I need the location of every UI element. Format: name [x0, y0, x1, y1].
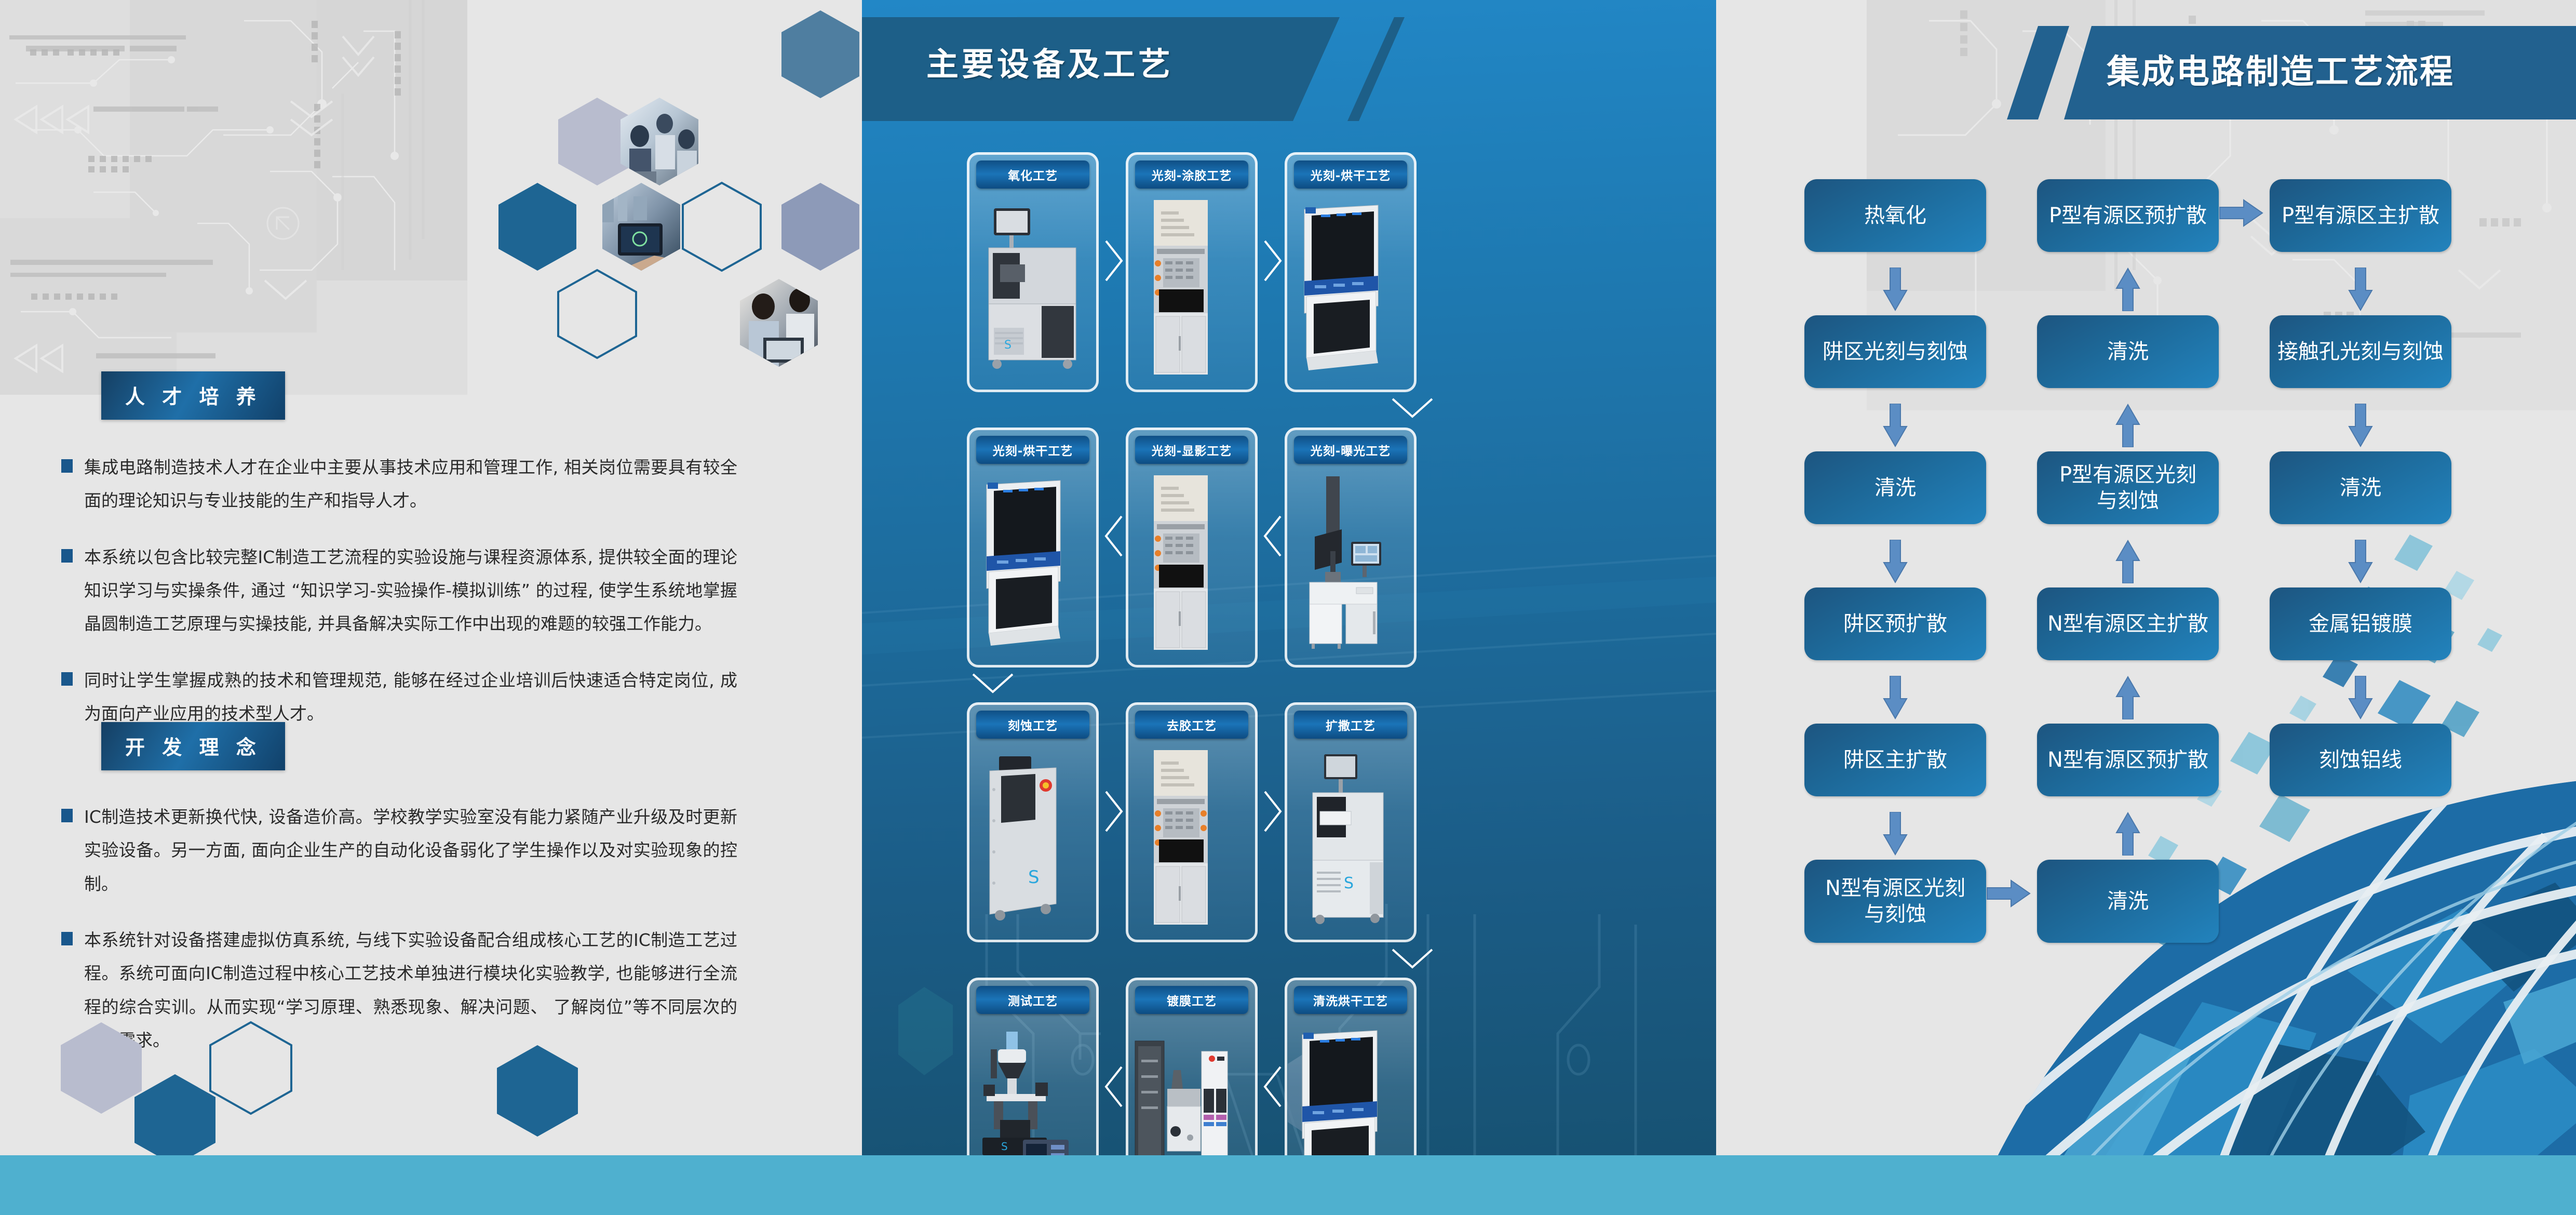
equipment-label: 光刻-涂胶工艺: [1135, 161, 1248, 189]
chevron-right-icon: [1262, 239, 1284, 283]
chevron-down-icon: [1391, 946, 1434, 971]
equipment-label: 光刻-曝光工艺: [1294, 436, 1407, 464]
equipment-card[interactable]: 光刻-显影工艺: [1126, 428, 1258, 667]
photo-tablet-factory: [600, 182, 683, 273]
flow-box[interactable]: P型有源区光刻 与刻蚀: [2037, 451, 2219, 524]
bullet-marker: [61, 459, 73, 473]
svg-text:S: S: [1028, 867, 1040, 888]
right-title: 集成电路制造工艺流程: [2107, 45, 2454, 93]
bottom-accent-bar: [0, 1155, 2576, 1215]
equipment-photo-develop-hood: [1152, 475, 1210, 652]
paragraph: 本系统以包含比较完整IC制造工艺流程的实验设施与课程资源体系, 提供较全面的理论…: [36, 541, 737, 641]
arrow-down-icon: [2348, 676, 2373, 719]
equipment-photo-etch-tool: S: [981, 753, 1064, 925]
equipment-label: 光刻-显影工艺: [1135, 436, 1248, 464]
svg-text:S: S: [1344, 874, 1354, 892]
equipment-photo-coating-hood: [1152, 200, 1210, 377]
flow-box[interactable]: 金属铝镀膜: [2270, 588, 2451, 660]
equipment-card[interactable]: 扩撒工艺 S: [1285, 702, 1417, 942]
section-badge-talent: 人 才 培 养: [101, 371, 285, 420]
equipment-card[interactable]: 刻蚀工艺 S: [967, 702, 1099, 942]
equipment-label: 光刻-烘干工艺: [1294, 161, 1407, 189]
equipment-card[interactable]: 氧化工艺 S: [967, 152, 1099, 392]
chevron-left-icon: [1262, 1065, 1284, 1109]
flow-box[interactable]: P型有源区主扩散: [2270, 179, 2451, 252]
chevron-right-icon: [1103, 790, 1125, 833]
equipment-label: 氧化工艺: [976, 161, 1089, 189]
flow-box[interactable]: 热氧化: [1804, 179, 1986, 252]
paragraph-text: IC制造技术更新换代快, 设备造价高。学校教学实验室没有能力紧随产业升级及时更新…: [84, 807, 737, 894]
equipment-label: 刻蚀工艺: [976, 711, 1089, 739]
paragraph: IC制造技术更新换代快, 设备造价高。学校教学实验室没有能力紧随产业升级及时更新…: [36, 800, 737, 901]
arrow-up-icon: [2115, 676, 2140, 719]
middle-panel: 主要设备及工艺 氧化工艺 S 光刻-涂胶工艺: [862, 0, 1716, 1215]
equipment-card[interactable]: 去胶工艺: [1126, 702, 1258, 942]
equipment-photo-exposure-aligner: [1294, 475, 1387, 650]
flow-box[interactable]: 清洗: [1804, 451, 1986, 524]
flow-box[interactable]: N型有源区主扩散: [2037, 588, 2219, 660]
arrow-down-icon: [2348, 540, 2373, 583]
middle-title-block: 主要设备及工艺: [862, 17, 1392, 121]
paragraph: 同时让学生掌握成熟的技术和管理规范, 能够在经过企业培训后快速适合特定岗位, 成…: [36, 664, 737, 731]
flow-box[interactable]: P型有源区预扩散: [2037, 179, 2219, 252]
left-panel: 人 才 培 养 集成电路制造技术人才在企业中主要从事技术应用和管理工作, 相关岗…: [0, 0, 862, 1215]
flow-box[interactable]: 阱区预扩散: [1804, 588, 1986, 660]
equipment-label: 扩撒工艺: [1294, 711, 1407, 739]
paragraph-text: 本系统以包含比较完整IC制造工艺流程的实验设施与课程资源体系, 提供较全面的理论…: [84, 547, 737, 634]
equipment-label: 光刻-烘干工艺: [976, 436, 1089, 464]
equipment-photo-diffusion-furnace: S: [1292, 752, 1388, 925]
right-panel: 集成电路制造工艺流程: [1716, 0, 2576, 1215]
equipment-label: 清洗烘干工艺: [1294, 986, 1407, 1014]
equipment-label: 去胶工艺: [1135, 711, 1248, 739]
arrow-right-icon: [1986, 879, 2031, 907]
photo-students-laptop: [737, 278, 820, 369]
arrow-down-icon: [2348, 404, 2373, 447]
equipment-label: 测试工艺: [976, 986, 1089, 1014]
flow-box[interactable]: 刻蚀铝线: [2270, 724, 2451, 796]
equipment-card[interactable]: 光刻-涂胶工艺: [1126, 152, 1258, 392]
poster-root: 人 才 培 养 集成电路制造技术人才在企业中主要从事技术应用和管理工作, 相关岗…: [0, 0, 2576, 1215]
chevron-down-icon: [1391, 396, 1434, 421]
arrow-right-icon: [2219, 199, 2263, 227]
svg-text:S: S: [1001, 1140, 1008, 1153]
flow-box[interactable]: 阱区主扩散: [1804, 724, 1986, 796]
arrow-up-icon: [2115, 540, 2140, 583]
arrow-up-icon: [2115, 404, 2140, 447]
equipment-card[interactable]: 光刻-烘干工艺: [967, 428, 1099, 667]
equipment-card[interactable]: 光刻-曝光工艺: [1285, 428, 1417, 667]
chevron-left-icon: [1103, 1065, 1125, 1109]
chevron-left-icon: [1262, 514, 1284, 558]
bullet-marker: [61, 809, 73, 822]
circuit-pattern-decoration: [0, 0, 467, 395]
middle-title: 主要设备及工艺: [926, 38, 1174, 85]
equipment-photo-bake-oven: [1300, 202, 1383, 373]
arrow-down-icon: [2348, 268, 2373, 311]
equipment-label: 镀膜工艺: [1135, 986, 1248, 1014]
svg-text:S: S: [1004, 339, 1011, 352]
arrow-down-icon: [1883, 676, 1908, 719]
right-title-block: 集成电路制造工艺流程: [2007, 26, 2576, 119]
flow-box[interactable]: 清洗: [2037, 315, 2219, 388]
section-badge-philosophy: 开 发 理 念: [101, 722, 285, 770]
flow-box[interactable]: 阱区光刻与刻蚀: [1804, 315, 1986, 388]
flow-box[interactable]: N型有源区光刻 与刻蚀: [1804, 860, 1986, 943]
flow-box[interactable]: N型有源区预扩散: [2037, 724, 2219, 796]
equipment-photo-oxidation-furnace: S: [979, 204, 1086, 376]
arrow-down-icon: [1883, 540, 1908, 583]
flow-box[interactable]: 清洗: [2037, 860, 2219, 943]
bullet-marker: [61, 672, 73, 686]
equipment-photo-strip-hood: [1152, 750, 1210, 927]
chevron-down-icon: [971, 671, 1015, 696]
photo-team-celebration: [618, 96, 701, 188]
bullet-marker: [61, 932, 73, 945]
arrow-up-icon: [2115, 268, 2140, 311]
hexagon-photo-cluster: [447, 0, 862, 374]
arrow-up-icon: [2115, 812, 2140, 856]
arrow-down-icon: [1883, 404, 1908, 447]
chevron-right-icon: [1262, 790, 1284, 833]
arrow-down-icon: [1883, 268, 1908, 311]
paragraph-text: 同时让学生掌握成熟的技术和管理规范, 能够在经过企业培训后快速适合特定岗位, 成…: [84, 670, 737, 724]
chevron-right-icon: [1103, 239, 1125, 283]
chevron-left-icon: [1103, 514, 1125, 558]
paragraph-text: 集成电路制造技术人才在企业中主要从事技术应用和管理工作, 相关岗位需要具有较全面…: [84, 457, 737, 511]
paragraph: 集成电路制造技术人才在企业中主要从事技术应用和管理工作, 相关岗位需要具有较全面…: [36, 451, 737, 518]
flow-box[interactable]: 清洗: [2270, 451, 2451, 524]
arrow-down-icon: [1883, 812, 1908, 856]
equipment-photo-bake-oven: [982, 477, 1066, 649]
equipment-card[interactable]: 光刻-烘干工艺: [1285, 152, 1417, 392]
left-section-talent: 人 才 培 养 集成电路制造技术人才在企业中主要从事技术应用和管理工作, 相关岗…: [0, 371, 800, 753]
flow-box[interactable]: 接触孔光刻与刻蚀: [2270, 315, 2451, 388]
bullet-marker: [61, 549, 73, 563]
right-title-slash-icon: [2007, 26, 2069, 119]
